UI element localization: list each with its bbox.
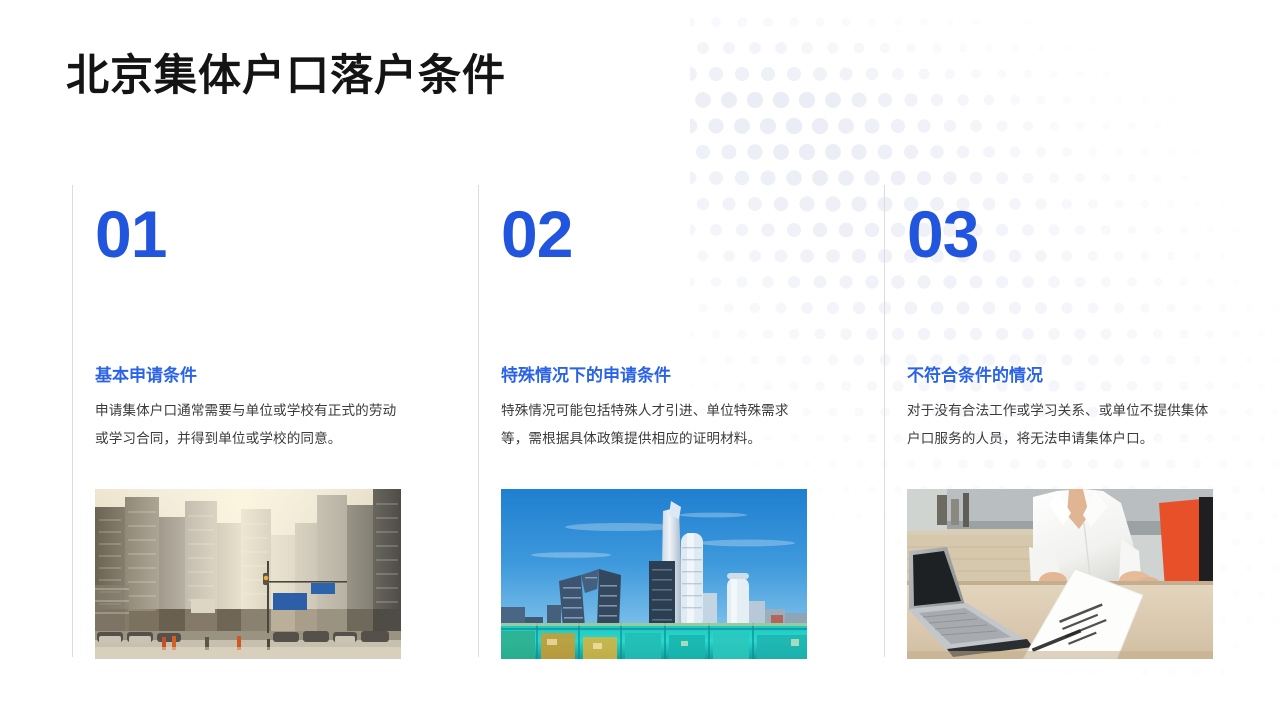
content-column-3: 03 不符合条件的情况 对于没有合法工作或学习关系、或单位不提供集体户口服务的人…	[884, 185, 1280, 657]
content-column-2: 02 特殊情况下的申请条件 特殊情况可能包括特殊人才引进、单位特殊需求等，需根据…	[478, 185, 884, 657]
column-heading-3: 不符合条件的情况	[907, 365, 1280, 387]
column-number-2: 02	[501, 201, 884, 297]
page-title: 北京集体户口落户条件	[66, 51, 506, 103]
column-body-2: 特殊情况可能包括特殊人才引进、单位特殊需求等，需根据具体政策提供相应的证明材料。	[501, 397, 813, 453]
column-body-3: 对于没有合法工作或学习关系、或单位不提供集体户口服务的人员，将无法申请集体户口。	[907, 397, 1219, 453]
application-form-handover-photo	[907, 489, 1213, 659]
slide-canvas: 北京集体户口落户条件 01 基本申请条件 申请集体户口通常需要与单位或学校有正式…	[0, 0, 1280, 720]
beijing-cbd-skyline-photo	[501, 489, 807, 659]
content-column-1: 01 基本申请条件 申请集体户口通常需要与单位或学校有正式的劳动或学习合同，并得…	[72, 185, 478, 657]
content-columns: 01 基本申请条件 申请集体户口通常需要与单位或学校有正式的劳动或学习合同，并得…	[72, 185, 1212, 657]
column-body-1: 申请集体户口通常需要与单位或学校有正式的劳动或学习合同，并得到单位或学校的同意。	[95, 397, 407, 453]
column-heading-1: 基本申请条件	[95, 365, 478, 387]
column-number-3: 03	[907, 201, 1280, 297]
column-number-1: 01	[95, 201, 478, 297]
column-heading-2: 特殊情况下的申请条件	[501, 365, 884, 387]
beijing-street-highrise-photo	[95, 489, 401, 659]
